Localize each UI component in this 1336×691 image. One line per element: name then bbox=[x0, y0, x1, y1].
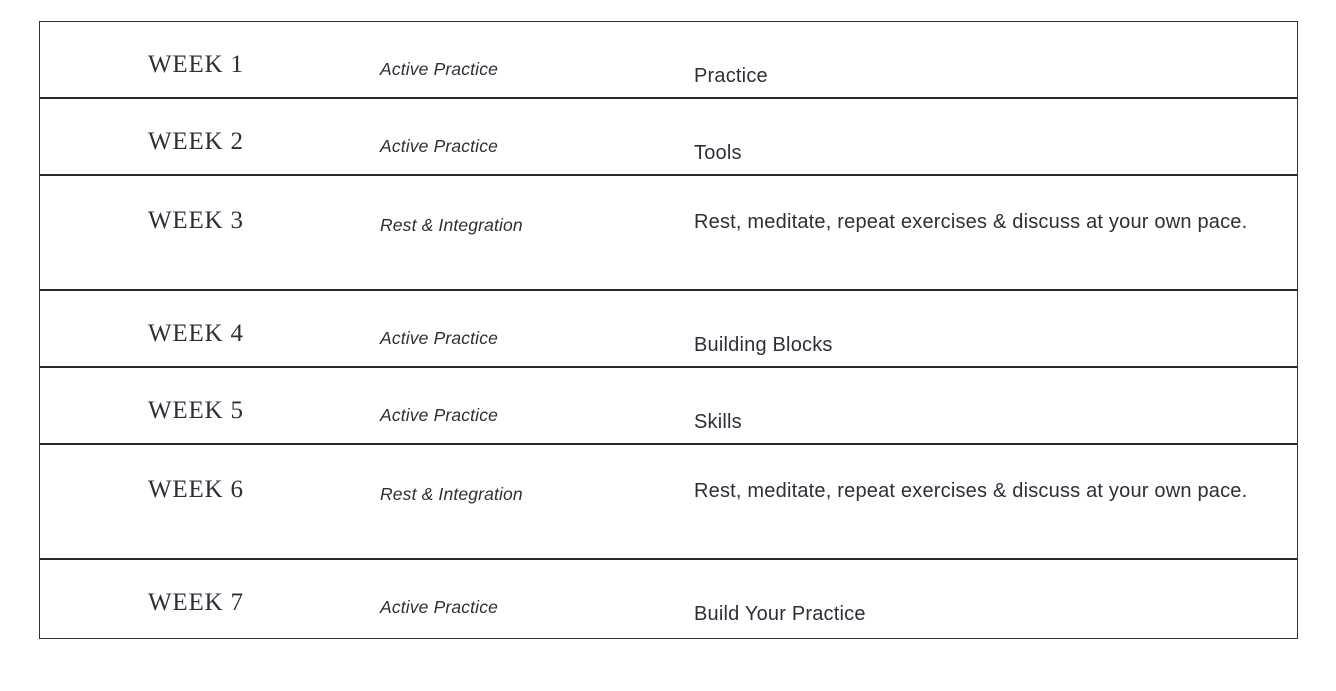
week-label: WEEK 2 bbox=[40, 99, 380, 154]
session-type-label: Active Practice bbox=[380, 99, 694, 156]
topic-label: Rest, meditate, repeat exercises & discu… bbox=[694, 176, 1297, 244]
session-type-label: Active Practice bbox=[380, 22, 694, 79]
week-label: WEEK 7 bbox=[40, 560, 380, 615]
table-row: WEEK 7 Active Practice Build Your Practi… bbox=[40, 560, 1297, 638]
session-type-label: Rest & Integration bbox=[380, 445, 694, 504]
table-row: WEEK 1 Active Practice Practice bbox=[40, 22, 1297, 99]
table-row: WEEK 6 Rest & Integration Rest, meditate… bbox=[40, 445, 1297, 560]
session-type-label: Active Practice bbox=[380, 368, 694, 425]
session-type-label: Active Practice bbox=[380, 291, 694, 348]
week-label: WEEK 1 bbox=[40, 22, 380, 77]
topic-label: Rest, meditate, repeat exercises & discu… bbox=[694, 445, 1297, 513]
topic-label: Skills bbox=[694, 368, 1297, 444]
table-row: WEEK 3 Rest & Integration Rest, meditate… bbox=[40, 176, 1297, 291]
topic-label: Practice bbox=[694, 22, 1297, 98]
topic-label: Tools bbox=[694, 99, 1297, 175]
week-label: WEEK 5 bbox=[40, 368, 380, 423]
weekly-schedule-table: WEEK 1 Active Practice Practice WEEK 2 A… bbox=[39, 21, 1298, 639]
week-label: WEEK 6 bbox=[40, 445, 380, 502]
session-type-label: Active Practice bbox=[380, 560, 694, 617]
week-label: WEEK 3 bbox=[40, 176, 380, 233]
table-row: WEEK 5 Active Practice Skills bbox=[40, 368, 1297, 445]
table-row: WEEK 4 Active Practice Building Blocks bbox=[40, 291, 1297, 368]
topic-label: Build Your Practice bbox=[694, 560, 1297, 636]
week-label: WEEK 4 bbox=[40, 291, 380, 346]
topic-label: Building Blocks bbox=[694, 291, 1297, 367]
session-type-label: Rest & Integration bbox=[380, 176, 694, 235]
table-row: WEEK 2 Active Practice Tools bbox=[40, 99, 1297, 176]
